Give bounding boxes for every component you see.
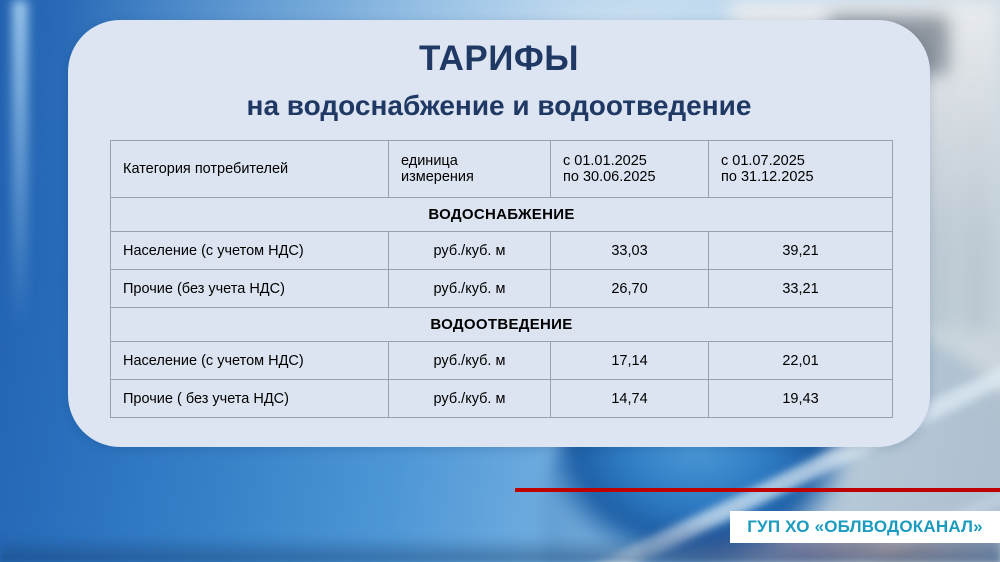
header-period-1-line-2: по 30.06.2025	[563, 169, 696, 185]
cell-unit: руб./куб. м	[389, 232, 551, 270]
cell-unit: руб./куб. м	[389, 270, 551, 308]
content-card: ТАРИФЫ на водоснабжение и водоотведение …	[68, 20, 930, 447]
header-period-2-line-1: с 01.07.2025	[721, 153, 880, 169]
cell-period-2: 22,01	[709, 342, 893, 380]
table-row: Население (с учетом НДС) руб./куб. м 33,…	[111, 232, 893, 270]
cell-category: Прочие (без учета НДС)	[111, 270, 389, 308]
header-period-2-line-2: по 31.12.2025	[721, 169, 880, 185]
cell-period-1: 14,74	[551, 380, 709, 418]
brand-banner: ГУП ХО «ОБЛВОДОКАНАЛ»	[730, 511, 1000, 543]
cell-category: Население (с учетом НДС)	[111, 232, 389, 270]
header-unit-line-1: единица	[401, 153, 538, 169]
cell-period-2: 19,43	[709, 380, 893, 418]
section-header-row-water-supply: ВОДОСНАБЖЕНИЕ	[111, 198, 893, 232]
cell-period-2: 33,21	[709, 270, 893, 308]
header-cell-unit: единица измерения	[389, 141, 551, 198]
cell-period-1: 26,70	[551, 270, 709, 308]
cell-period-1: 17,14	[551, 342, 709, 380]
header-period-1-line-1: с 01.01.2025	[563, 153, 696, 169]
brand-label: ГУП ХО «ОБЛВОДОКАНАЛ»	[747, 517, 983, 537]
header-cell-period-1: с 01.01.2025 по 30.06.2025	[551, 141, 709, 198]
cell-period-2: 39,21	[709, 232, 893, 270]
slide-canvas: ТАРИФЫ на водоснабжение и водоотведение …	[0, 0, 1000, 562]
page-title: ТАРИФЫ	[68, 39, 930, 79]
section-title-sewerage: ВОДООТВЕДЕНИЕ	[111, 308, 893, 342]
header-cell-period-2: с 01.07.2025 по 31.12.2025	[709, 141, 893, 198]
table-row: Прочие (без учета НДС) руб./куб. м 26,70…	[111, 270, 893, 308]
page-subtitle: на водоснабжение и водоотведение	[68, 90, 930, 122]
header-unit-line-2: измерения	[401, 169, 538, 185]
table-header-row: Категория потребителей единица измерения…	[111, 141, 893, 198]
tariff-table: Категория потребителей единица измерения…	[110, 140, 893, 418]
cell-unit: руб./куб. м	[389, 380, 551, 418]
cell-period-1: 33,03	[551, 232, 709, 270]
cell-category: Прочие ( без учета НДС)	[111, 380, 389, 418]
footer-red-rule	[515, 488, 1000, 492]
header-cell-category: Категория потребителей	[111, 141, 389, 198]
table-row: Население (с учетом НДС) руб./куб. м 17,…	[111, 342, 893, 380]
cell-unit: руб./куб. м	[389, 342, 551, 380]
section-header-row-sewerage: ВОДООТВЕДЕНИЕ	[111, 308, 893, 342]
table-row: Прочие ( без учета НДС) руб./куб. м 14,7…	[111, 380, 893, 418]
section-title-water-supply: ВОДОСНАБЖЕНИЕ	[111, 198, 893, 232]
cell-category: Население (с учетом НДС)	[111, 342, 389, 380]
background-light-streak	[12, 0, 28, 330]
